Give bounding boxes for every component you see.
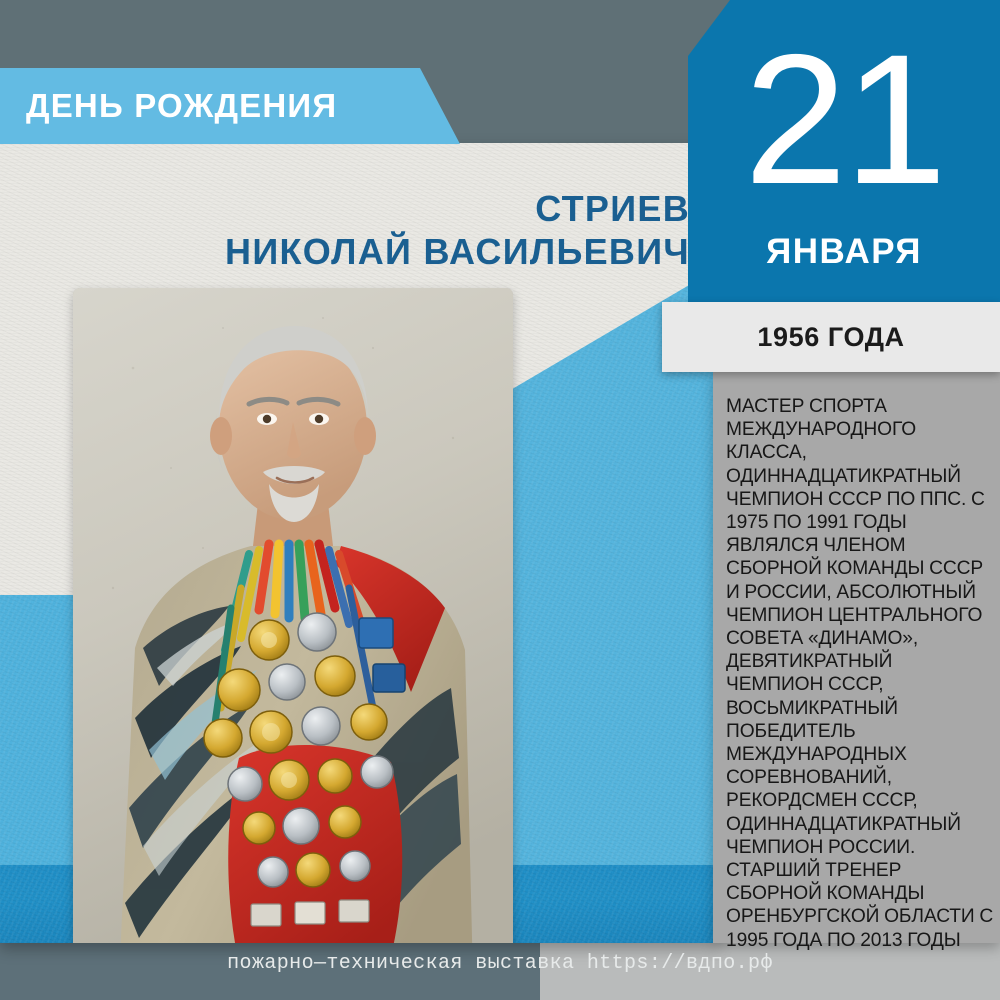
poster-root: СТРИЕВ НИКОЛАЙ ВАСИЛЬЕВИЧ xyxy=(0,0,1000,1000)
person-surname: СТРИЕВ xyxy=(0,188,690,230)
date-year: 1956 ГОДА xyxy=(757,322,904,353)
birthday-banner-label: ДЕНЬ РОЖДЕНИЯ xyxy=(26,68,337,144)
biography-panel: МАСТЕР СПОРТА МЕЖДУНАРОДНОГО КЛАССА, ОДИ… xyxy=(713,372,1000,943)
date-month: ЯНВАРЯ xyxy=(688,232,1000,272)
biography-text: МАСТЕР СПОРТА МЕЖДУНАРОДНОГО КЛАССА, ОДИ… xyxy=(726,395,994,952)
birthday-banner: ДЕНЬ РОЖДЕНИЯ xyxy=(0,68,460,144)
birthday-card: СТРИЕВ НИКОЛАЙ ВАСИЛЬЕВИЧ xyxy=(0,143,718,943)
person-given-name: НИКОЛАЙ ВАСИЛЬЕВИЧ xyxy=(0,230,690,274)
person-name: СТРИЕВ НИКОЛАЙ ВАСИЛЬЕВИЧ xyxy=(0,188,690,274)
date-day: 21 xyxy=(688,28,1000,213)
date-year-band: 1956 ГОДА xyxy=(662,302,1000,372)
footer-caption: пожарно—техническая выставка https://вдп… xyxy=(0,952,1000,975)
portrait-photo xyxy=(73,288,513,943)
